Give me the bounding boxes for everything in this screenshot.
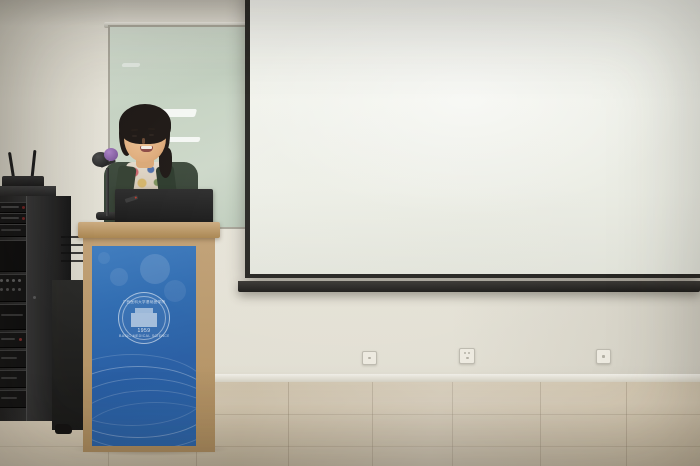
slide-section-2: 2. 建设目标： 具有地域特色，在国内外有一定影响力的区内一流综合性科研平台。 … xyxy=(308,145,576,197)
emblem-arc-top: 广西医科大学基础医学院 xyxy=(119,300,169,305)
section-2-number: 2. xyxy=(308,147,318,159)
shoe-left xyxy=(55,424,72,434)
microphone-windscreen xyxy=(104,148,118,161)
projection-screen-bottom-bar xyxy=(238,281,700,292)
board-glare-3 xyxy=(121,63,140,67)
presenter-hair xyxy=(119,104,171,144)
university-emblem: 广西医科大学基础医学院 1959 BASIC MEDICAL SCIENCE xyxy=(118,292,170,344)
slide-title-divider xyxy=(264,21,686,22)
section-1-heading: 1. 实验室简介： xyxy=(308,38,621,53)
projection-surface: （一）实验室简介和建设目标 1. 实验室简介： 成立： 2014年，广西教育厅主… xyxy=(250,0,700,274)
wall-outlet-center xyxy=(459,348,475,364)
rack-unit-7 xyxy=(0,390,27,408)
taskbar-left-icons xyxy=(254,262,348,270)
section-2-heading: 2. 建设目标： xyxy=(308,145,576,160)
rack-unit-5 xyxy=(0,350,27,368)
shield-icon[interactable] xyxy=(660,263,666,269)
line-4-label: 宗旨： xyxy=(318,114,344,124)
lectern: 广西医科大学基础医学院 1959 BASIC MEDICAL SCIENCE xyxy=(78,222,220,452)
lectern-front-panel: 广西医科大学基础医学院 1959 BASIC MEDICAL SCIENCE xyxy=(92,246,196,446)
section-2-title: 建设目标： xyxy=(321,147,376,159)
slide-section-1: 1. 实验室简介： 成立： 2014年，广西教育厅主管设立。 依托学科： 人体解… xyxy=(308,38,621,126)
battery-icon[interactable] xyxy=(680,263,686,269)
wall-plate-right xyxy=(596,349,611,364)
wps-icon[interactable] xyxy=(310,262,318,270)
emblem-building-icon xyxy=(131,313,157,327)
teeth xyxy=(141,146,152,149)
powerpoint-slide: （一）实验室简介和建设目标 1. 实验室简介： 成立： 2014年，广西教育厅主… xyxy=(250,0,700,258)
rack-door-lock-icon[interactable] xyxy=(33,296,36,299)
section-1-line-4: 宗旨： 增进学科建设、科学研究、人才培养、对外开放和学术交流。 xyxy=(308,113,621,126)
powerpoint-icon[interactable] xyxy=(340,262,348,270)
edge-icon[interactable] xyxy=(295,262,303,270)
rack-mixer xyxy=(0,274,27,302)
microphone-stand xyxy=(106,168,109,216)
line-3-text: 多学科交叉。 xyxy=(352,93,404,103)
rack-unit-6 xyxy=(0,370,27,388)
section-2-line-1: 具有地域特色，在国内外有一定影响力的区内一流综合性科研平台。 xyxy=(308,166,576,181)
clock-icon[interactable] xyxy=(690,263,696,269)
slide-title: （一）实验室简介和建设目标 xyxy=(250,0,700,17)
thinkpad-laptop[interactable] xyxy=(115,189,213,225)
section-2-line-2: 造本省人才，助力本省的科技、医疗和经济发展。 xyxy=(308,183,576,198)
search-icon[interactable] xyxy=(269,263,275,269)
network-icon[interactable] xyxy=(640,263,646,269)
wall-plate-left xyxy=(362,351,377,365)
rack-unit-2 xyxy=(0,213,27,224)
lecture-hall-scene: （一）实验室简介和建设目标 1. 实验室简介： 成立： 2014年，广西教育厅主… xyxy=(0,0,700,466)
section-1-line-1: 成立： 2014年，广西教育厅主管设立。 xyxy=(308,59,621,72)
emblem-arc-bottom: BASIC MEDICAL SCIENCE xyxy=(119,334,169,338)
rack-unit-dark xyxy=(0,240,27,272)
line-1-text: 2014年，广西教育厅主管设立。 xyxy=(346,60,468,70)
taskbar-system-tray xyxy=(630,263,696,269)
line-2-text: 人体解剖学和组织胚胎学，整合神经内科、病生、生理和转化医学等 xyxy=(363,76,621,86)
line-1-label: 成立： xyxy=(318,60,344,70)
section-1-number: 1. xyxy=(308,40,318,52)
eye-left xyxy=(132,135,137,137)
start-icon[interactable] xyxy=(254,262,262,270)
folder-icon[interactable] xyxy=(325,262,333,270)
section-1-line-3: 多学科交叉。 xyxy=(308,92,621,105)
ime-icon[interactable] xyxy=(670,263,676,269)
windows-taskbar[interactable] xyxy=(250,259,700,274)
thinkpad-logo-icon xyxy=(125,195,139,203)
rack-amp xyxy=(0,304,27,330)
rack-unit-4 xyxy=(0,332,27,348)
presentation-controls-widget[interactable] xyxy=(655,0,695,2)
chevron-up-icon[interactable] xyxy=(630,263,636,269)
task-view-icon[interactable] xyxy=(282,263,288,269)
lectern-top-surface xyxy=(78,222,220,238)
rack-unit-3 xyxy=(0,224,27,237)
nose xyxy=(142,138,145,144)
rack-unit-1 xyxy=(0,202,27,213)
line-2-label: 依托学科： xyxy=(318,76,361,86)
section-1-line-2: 依托学科： 人体解剖学和组织胚胎学，整合神经内科、病生、生理和转化医学等 xyxy=(308,75,621,88)
section-1-title: 实验室简介： xyxy=(321,40,387,52)
volume-icon[interactable] xyxy=(650,263,656,269)
eye-right xyxy=(149,134,154,136)
line-4-text: 增进学科建设、科学研究、人才培养、对外开放和学术交流。 xyxy=(346,114,578,124)
